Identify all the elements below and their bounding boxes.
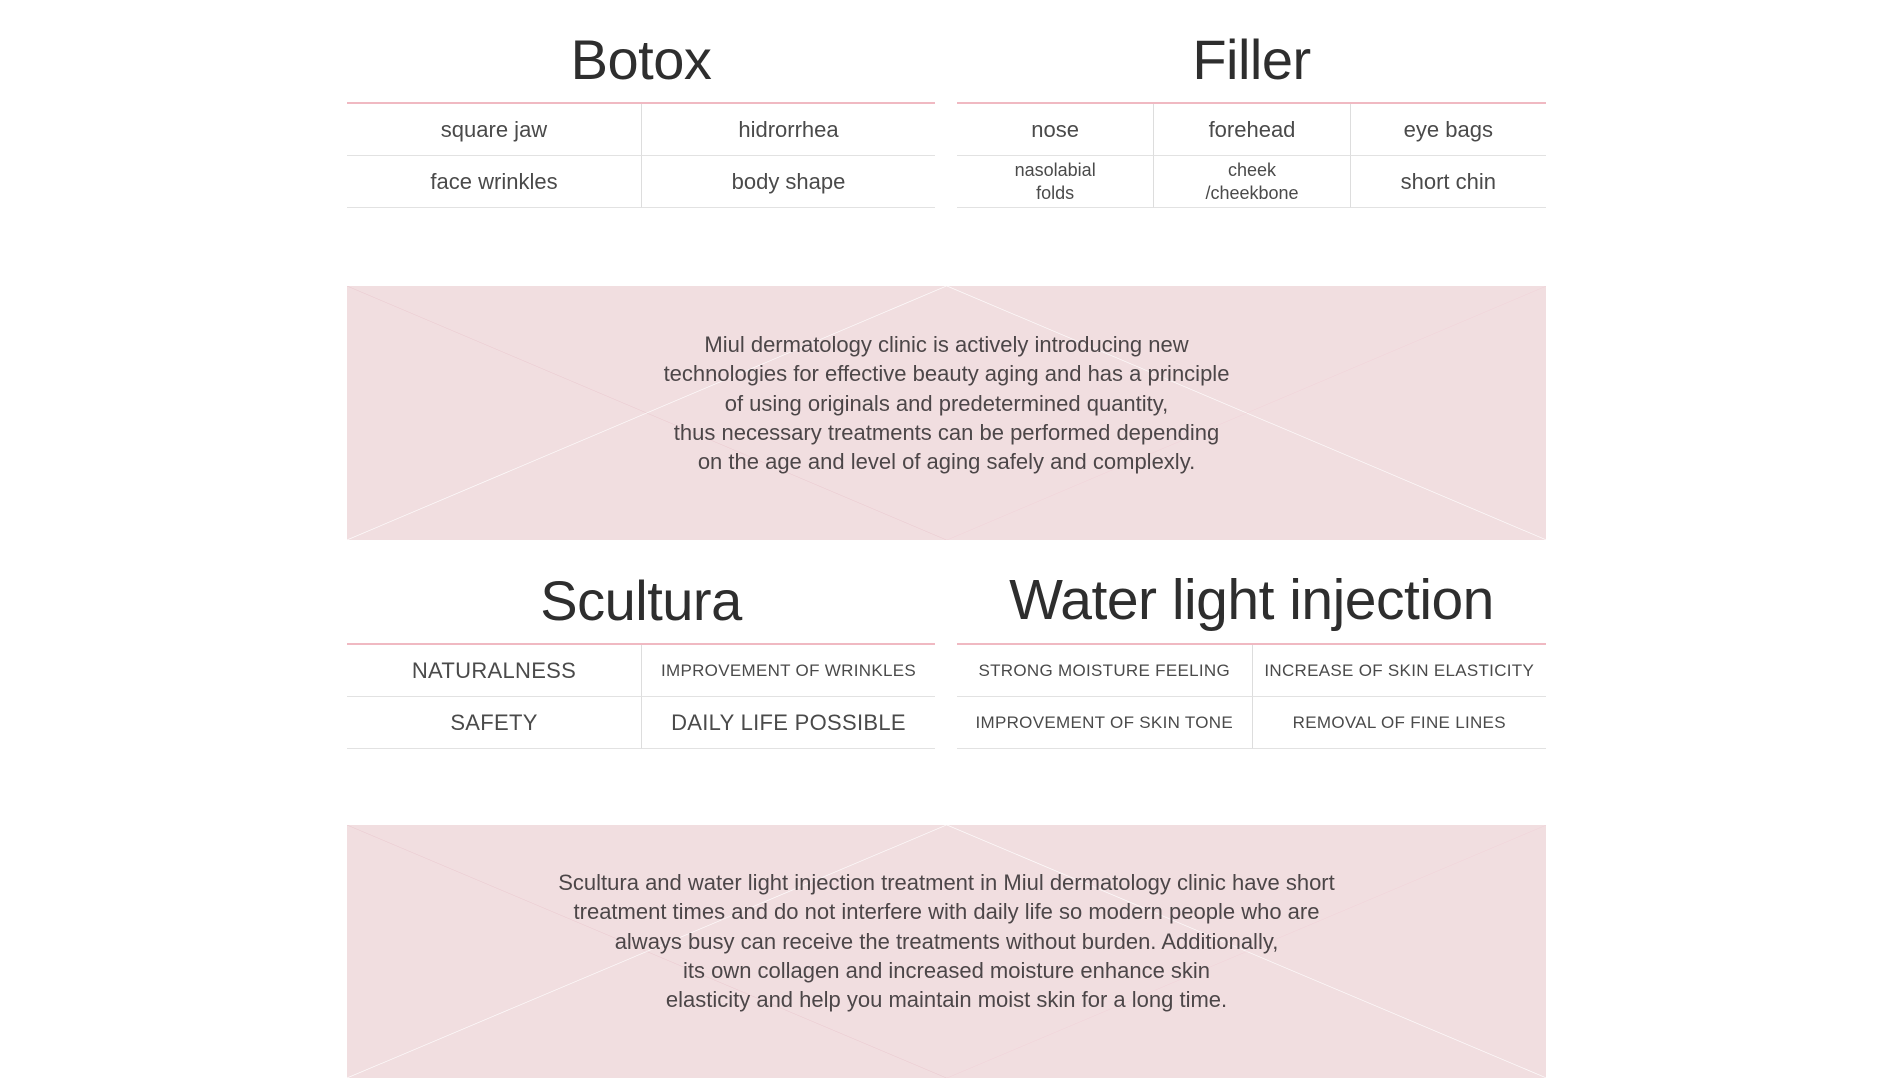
section-scultura: Scultura NATURALNESS IMPROVEMENT OF WRIN… xyxy=(347,573,935,749)
treatment-item[interactable]: hidrorrhea xyxy=(641,104,935,156)
group-1-tables: Botox square jaw hidrorrhea face wrinkle… xyxy=(347,32,1546,208)
feature-item[interactable]: NATURALNESS xyxy=(347,645,641,697)
section-title-filler: Filler xyxy=(957,32,1546,102)
note-text-2: Scultura and water light injection treat… xyxy=(347,868,1546,1014)
feature-item[interactable]: INCREASE OF SKIN ELASTICITY xyxy=(1252,645,1547,697)
treatment-info-page: Botox square jaw hidrorrhea face wrinkle… xyxy=(0,0,1903,1078)
feature-item[interactable]: STRONG MOISTURE FEELING xyxy=(957,645,1252,697)
feature-item[interactable]: DAILY LIFE POSSIBLE xyxy=(641,697,935,749)
feature-item[interactable]: IMPROVEMENT OF SKIN TONE xyxy=(957,697,1252,749)
treatment-item[interactable]: nose xyxy=(957,104,1153,156)
item-grid-water-light-injection: STRONG MOISTURE FEELING INCREASE OF SKIN… xyxy=(957,645,1546,749)
group-2-tables: Scultura NATURALNESS IMPROVEMENT OF WRIN… xyxy=(347,572,1546,749)
section-title-water-light-injection: Water light injection xyxy=(957,572,1546,643)
treatment-item[interactable]: forehead xyxy=(1153,104,1349,156)
item-grid-filler: nose forehead eye bags nasolabial folds … xyxy=(957,104,1546,208)
item-grid-scultura: NATURALNESS IMPROVEMENT OF WRINKLES SAFE… xyxy=(347,645,935,749)
section-title-botox: Botox xyxy=(347,32,935,102)
treatment-item[interactable]: cheek /cheekbone xyxy=(1153,156,1349,208)
section-pair-1: Botox square jaw hidrorrhea face wrinkle… xyxy=(347,32,1546,208)
treatment-item[interactable]: short chin xyxy=(1350,156,1546,208)
feature-item[interactable]: IMPROVEMENT OF WRINKLES xyxy=(641,645,935,697)
treatment-item[interactable]: body shape xyxy=(641,156,935,208)
item-grid-botox: square jaw hidrorrhea face wrinkles body… xyxy=(347,104,935,208)
section-water-light-injection: Water light injection STRONG MOISTURE FE… xyxy=(957,572,1546,749)
feature-item[interactable]: REMOVAL OF FINE LINES xyxy=(1252,697,1547,749)
treatment-item[interactable]: eye bags xyxy=(1350,104,1546,156)
section-filler: Filler nose forehead eye bags nasolabial… xyxy=(957,32,1546,208)
section-botox: Botox square jaw hidrorrhea face wrinkle… xyxy=(347,32,935,208)
note-panel-2: Scultura and water light injection treat… xyxy=(347,825,1546,1078)
section-title-scultura: Scultura xyxy=(347,573,935,643)
treatment-item[interactable]: nasolabial folds xyxy=(957,156,1153,208)
note-text-1: Miul dermatology clinic is actively intr… xyxy=(347,330,1546,476)
treatment-item[interactable]: face wrinkles xyxy=(347,156,641,208)
section-pair-2: Scultura NATURALNESS IMPROVEMENT OF WRIN… xyxy=(347,572,1546,749)
feature-item[interactable]: SAFETY xyxy=(347,697,641,749)
note-panel-1: Miul dermatology clinic is actively intr… xyxy=(347,286,1546,540)
treatment-item[interactable]: square jaw xyxy=(347,104,641,156)
